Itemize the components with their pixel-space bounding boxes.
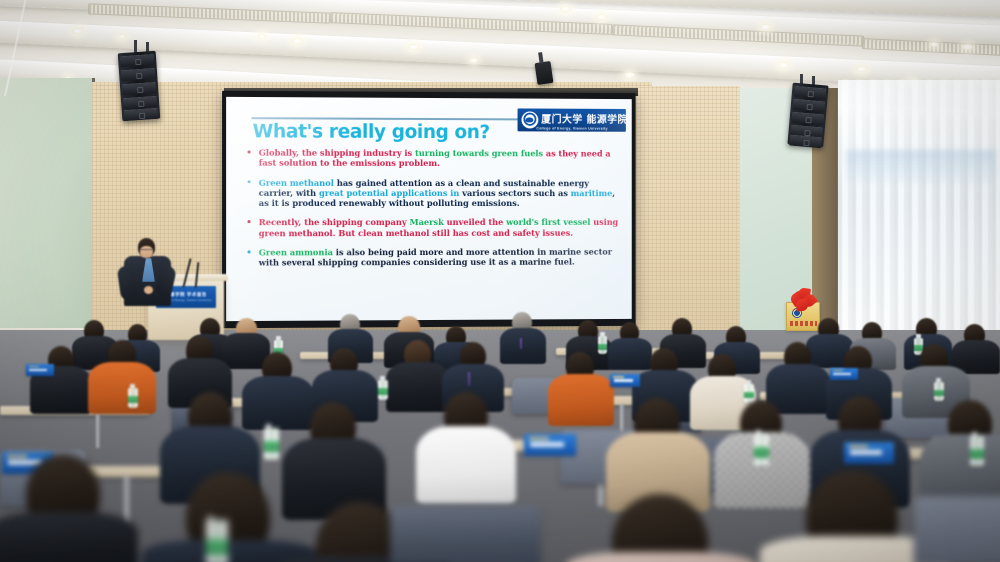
ceiling-downlight-icon <box>778 62 789 68</box>
ceiling-downlight-icon <box>118 34 126 39</box>
left-glass-panel <box>0 78 95 328</box>
red-ribbon-flower-icon <box>790 288 816 310</box>
text-run: green fuels <box>492 148 546 158</box>
acoustic-wall-panel-right <box>620 86 740 336</box>
text-run: great potential applications in <box>319 188 462 198</box>
text-run: world's first vessel <box>506 217 593 227</box>
list-item: Globally, the shipping industry is turni… <box>244 147 623 168</box>
ceiling-downlight-icon <box>72 28 83 34</box>
line-array-speaker-icon <box>118 51 161 121</box>
bullet-text: Recently, the shipping company Maersk un… <box>259 217 624 238</box>
podium-banner-line1: 能源学院 学术报告 <box>165 292 207 298</box>
window-reflection-band <box>846 150 996 184</box>
text-run: Green ammonia <box>259 247 336 257</box>
logo-english-text: College of Energy, Xiamen University <box>536 126 607 130</box>
text-run: Recently, <box>259 218 304 228</box>
window-light-glow <box>838 80 1000 340</box>
ceiling-downlight-icon <box>408 44 419 50</box>
ceiling-projector-icon <box>535 61 554 85</box>
bullet-dot-icon <box>248 251 251 254</box>
ceiling-downlight-icon <box>856 66 867 72</box>
ceiling-downlight-icon <box>470 58 478 63</box>
presenter-hand <box>144 286 153 294</box>
bullet-dot-icon <box>248 221 251 224</box>
text-run: turning towards <box>415 148 492 158</box>
ceiling-downlight-icon <box>760 24 771 30</box>
university-logo-badge: 厦门大学 能源学院 College of Energy, Xiamen Univ… <box>518 108 626 131</box>
list-item: Green methanol has gained attention as a… <box>244 177 623 208</box>
text-run: Globally, <box>259 147 302 157</box>
text-run: unveiled the <box>447 217 506 227</box>
bullet-text: Green methanol has gained attention as a… <box>259 177 624 208</box>
list-item: Green ammonia is also being paid more an… <box>244 247 623 268</box>
bullet-text: Globally, the shipping industry is turni… <box>259 147 624 168</box>
ceiling-downlight-icon <box>624 72 635 78</box>
plaque-label <box>790 321 817 326</box>
conference-hall-photo: What's really going on? 厦门大学 能源学院 Colleg… <box>0 0 1000 562</box>
presentation-slide: What's really going on? 厦门大学 能源学院 Colleg… <box>226 97 632 321</box>
logo-chinese-text: 厦门大学 能源学院 <box>541 115 628 125</box>
text-run: the shipping industry is <box>302 148 415 158</box>
bullet-text: Green ammonia is also being paid more an… <box>259 247 624 268</box>
text-run: maritime <box>571 188 613 198</box>
bullet-dot-icon <box>248 180 251 183</box>
list-item: Recently, the shipping company Maersk un… <box>244 217 623 238</box>
ceiling-downlight-icon <box>292 38 303 44</box>
ceiling-downlight-icon <box>930 42 938 47</box>
text-run: various sectors such as <box>462 188 571 198</box>
ceiling-downlight-icon <box>962 44 973 50</box>
line-array-speaker-icon <box>787 83 828 148</box>
title-underline <box>252 117 528 120</box>
ceiling-downlight-icon <box>560 6 571 12</box>
text-run: Green methanol <box>259 177 337 187</box>
ceiling-downlight-icon <box>596 14 607 20</box>
bullet-dot-icon <box>248 150 251 153</box>
text-run: Maersk <box>409 217 446 227</box>
ceiling-downlight-icon <box>258 34 266 39</box>
text-run: the shipping company <box>304 217 409 227</box>
glasses-icon <box>140 249 153 253</box>
slide-title: What's really going on? <box>253 121 490 143</box>
projection-screen: What's really going on? 厦门大学 能源学院 Colleg… <box>222 91 636 328</box>
slide-bullet-list: Globally, the shipping industry is turni… <box>244 147 623 277</box>
